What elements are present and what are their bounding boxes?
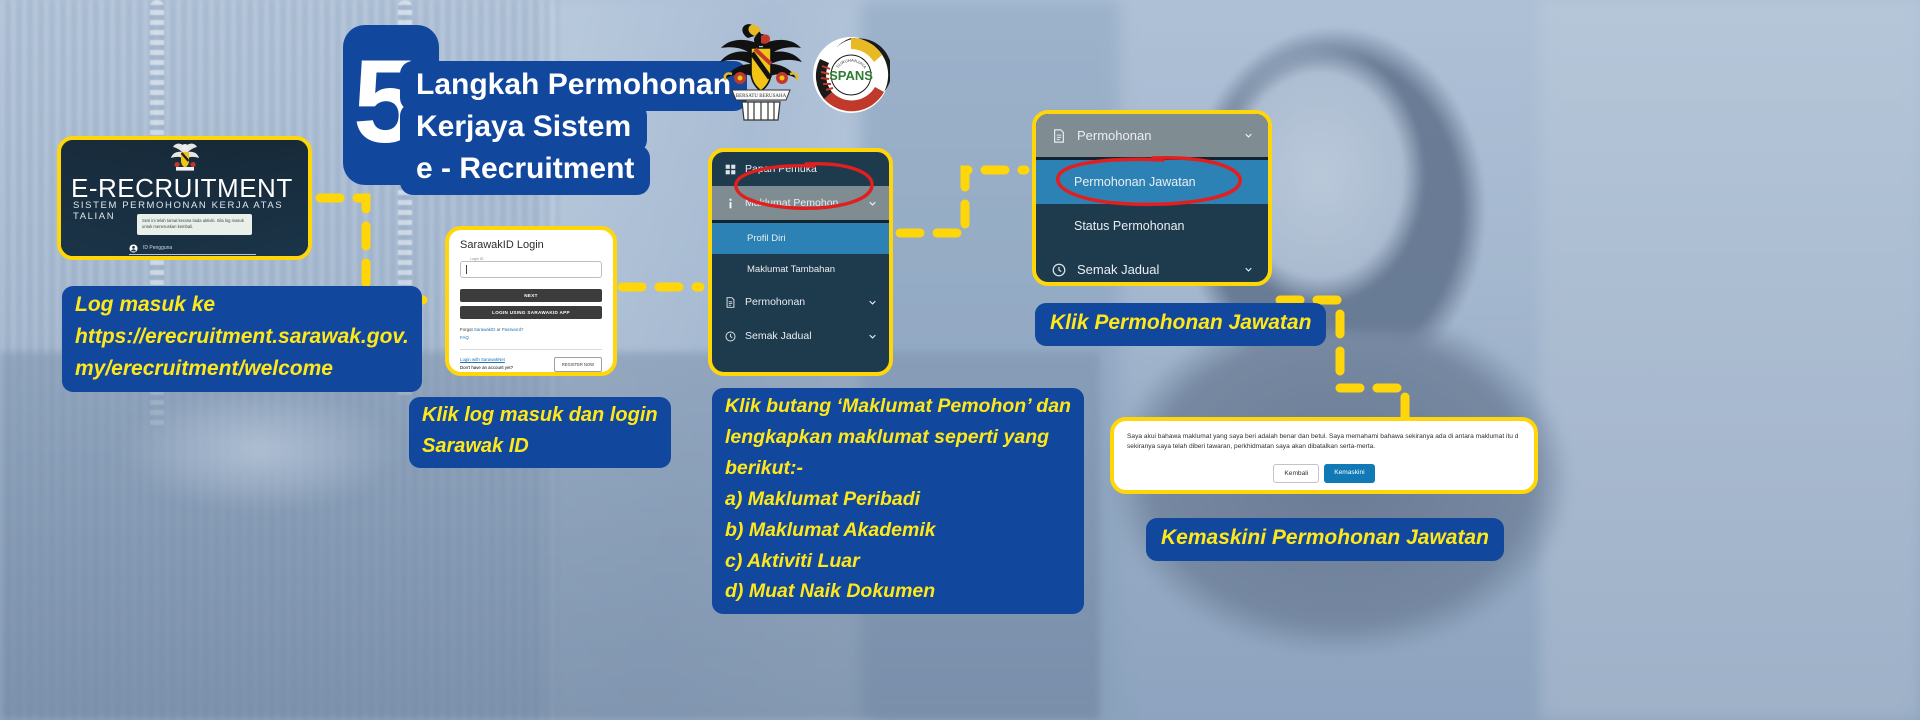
permohonan-sidebar-menu[interactable]: Permohonan Permohonan Jawatan Status Per… xyxy=(1032,110,1272,286)
kembali-button[interactable]: Kembali xyxy=(1273,464,1319,483)
forgot-line: Forgot SarawakID or Password? xyxy=(460,326,602,334)
sidebar-item-permohonan[interactable]: Permohonan xyxy=(1036,114,1268,157)
no-account-text: Don't have an account yet? xyxy=(460,365,513,370)
erecruitment-login-screen[interactable]: E-RECRUITMENT SISTEM PERMOHONAN KERJA AT… xyxy=(57,136,312,260)
page-title: 5 Langkah Permohonan Kerjaya Sistem e - … xyxy=(343,25,743,185)
sarawakid-login-dialog[interactable]: SarawakID Login Login ID NEXT LOGIN USIN… xyxy=(445,226,617,376)
caption-line: Klik log masuk dan login xyxy=(418,401,662,431)
chevron-down-icon xyxy=(1245,266,1252,273)
sarawak-coat-of-arms-icon: BERSATU BERUSAHA xyxy=(718,16,804,126)
sidebar-item-label: Papan Pemuka xyxy=(745,163,817,175)
kemaskini-button[interactable]: Kemaskini xyxy=(1324,464,1374,483)
register-now-button[interactable]: REGISTER NOW xyxy=(554,357,602,372)
dialog-footer: Login with SarawakNet Don't have an acco… xyxy=(460,356,602,373)
session-expired-notice: Sesi ini telah tamat kerana tiada aktivi… xyxy=(137,214,252,235)
clock-icon xyxy=(725,331,736,342)
forgot-prefix: Forgot xyxy=(460,327,474,332)
helper-links: Forgot SarawakID or Password? FAQ xyxy=(460,326,602,342)
caption-line: Log masuk ke xyxy=(71,290,219,321)
chevron-down-icon xyxy=(1245,132,1252,139)
spans-logo-icon: SPANS SURUHANJAYA PERKHIDMATAN xyxy=(812,36,890,114)
caption-step-2: Klik log masuk dan login Sarawak ID xyxy=(409,397,671,468)
forgot-sarawakid-link[interactable]: SarawakID xyxy=(474,327,495,332)
clock-icon xyxy=(1052,263,1066,277)
document-icon xyxy=(725,297,736,308)
sidebar-item-maklumat-tambahan[interactable]: Maklumat Tambahan xyxy=(712,254,889,285)
sidebar-item-status-permohonan[interactable]: Status Permohonan xyxy=(1036,204,1268,248)
sidebar-item-label: Profil Diri xyxy=(747,233,786,244)
sidebar-item-permohonan-jawatan[interactable]: Permohonan Jawatan xyxy=(1036,160,1268,204)
svg-text:SPANS: SPANS xyxy=(829,68,873,83)
user-icon xyxy=(129,244,138,253)
caption-line: berikut:- xyxy=(720,454,808,483)
login-id-input[interactable] xyxy=(460,261,602,278)
login-using-app-button[interactable]: LOGIN USING SARAWAKID APP xyxy=(460,306,602,319)
chevron-down-icon xyxy=(869,299,876,306)
forgot-password-link[interactable]: Password? xyxy=(502,327,524,332)
chevron-down-icon xyxy=(869,200,876,207)
user-id-field[interactable]: ID Pengguna xyxy=(129,242,256,255)
sidebar-item-maklumat-pemohon[interactable]: Maklumat Pemohon xyxy=(712,186,889,220)
text-caret xyxy=(466,265,467,274)
sidebar-item-label: Semak Jadual xyxy=(745,330,812,342)
svg-text:BERSATU BERUSAHA: BERSATU BERUSAHA xyxy=(736,94,787,99)
declaration-text: Saya akui bahawa maklumat yang saya beri… xyxy=(1114,421,1534,452)
declaration-line-2: sekiranya saya telah diberi tawaran, per… xyxy=(1127,442,1521,452)
caption-line: https://erecruitment.sarawak.gov. xyxy=(71,322,413,353)
crest-icon xyxy=(168,141,202,171)
sidebar-item-semak-jadual[interactable]: Semak Jadual xyxy=(712,319,889,353)
caption-line: lengkapkan maklumat seperti yang xyxy=(720,423,1054,452)
faq-link[interactable]: FAQ xyxy=(460,335,469,340)
caption-line: Sarawak ID xyxy=(418,432,533,462)
divider xyxy=(460,349,602,350)
sidebar-item-permohonan[interactable]: Permohonan xyxy=(712,285,889,319)
caption-line: Klik butang ‘Maklumat Pemohon’ dan xyxy=(720,392,1076,421)
caption-line: a) Maklumat Peribadi xyxy=(720,485,925,514)
caption-line: my/erecruitment/welcome xyxy=(71,354,337,385)
login-id-field-wrapper[interactable]: Login ID xyxy=(460,261,602,278)
sarawaknet-login-link[interactable]: Login with SarawakNet xyxy=(460,356,513,364)
sarawakid-title: SarawakID Login xyxy=(460,239,602,251)
chevron-down-icon xyxy=(869,333,876,340)
sidebar-item-label: Permohonan xyxy=(1077,128,1151,143)
sidebar-item-label: Status Permohonan xyxy=(1074,219,1185,233)
caption-step-5: Kemaskini Permohonan Jawatan xyxy=(1146,518,1504,561)
sidebar-item-semak-jadual[interactable]: Semak Jadual xyxy=(1036,248,1268,286)
caption-step-1: Log masuk ke https://erecruitment.sarawa… xyxy=(62,286,422,392)
caption-line: c) Aktiviti Luar xyxy=(720,547,865,576)
caption-step-3: Klik butang ‘Maklumat Pemohon’ dan lengk… xyxy=(712,388,1084,614)
title-line-3: e - Recruitment xyxy=(400,145,650,195)
sidebar-item-profil-diri[interactable]: Profil Diri xyxy=(712,223,889,254)
sidebar-item-label: Permohonan Jawatan xyxy=(1074,175,1196,189)
user-id-label: ID Pengguna xyxy=(143,245,172,251)
login-id-label: Login ID xyxy=(467,257,486,261)
caption-line: d) Muat Naik Dokumen xyxy=(720,577,940,606)
declaration-dialog[interactable]: Saya akui bahawa maklumat yang saya beri… xyxy=(1110,417,1538,494)
sidebar-item-label: Semak Jadual xyxy=(1077,262,1159,277)
declaration-line-1: Saya akui bahawa maklumat yang saya beri… xyxy=(1127,432,1521,442)
sidebar-item-label: Maklumat Pemohon xyxy=(745,197,838,209)
sidebar-item-label: Maklumat Tambahan xyxy=(747,264,835,275)
sidebar-item-label: Permohonan xyxy=(745,296,805,308)
next-button[interactable]: NEXT xyxy=(460,289,602,302)
caption-step-4: Klik Permohonan Jawatan xyxy=(1035,303,1326,346)
declaration-buttons: Kembali Kemaskini xyxy=(1114,464,1534,483)
info-icon xyxy=(725,198,736,209)
document-icon xyxy=(1052,129,1066,143)
caption-line: b) Maklumat Akademik xyxy=(720,516,941,545)
